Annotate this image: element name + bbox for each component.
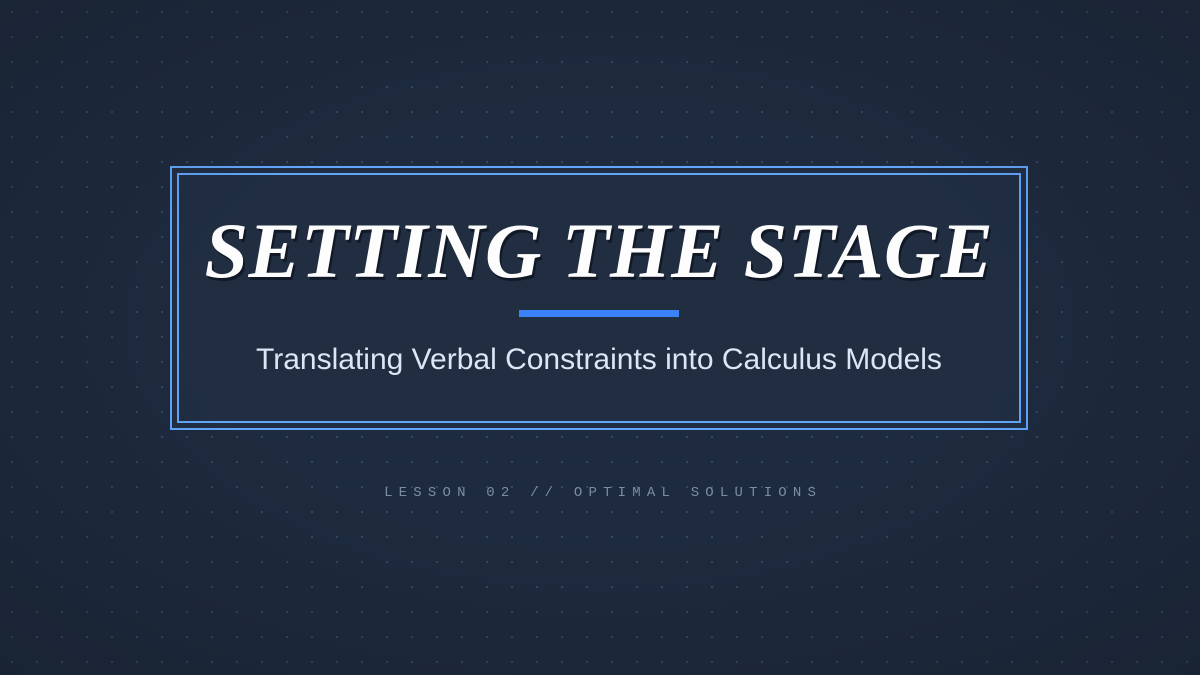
title-panel: SETTING THE STAGE Translating Verbal Con…	[170, 166, 1028, 430]
page-subtitle: Translating Verbal Constraints into Calc…	[256, 343, 942, 378]
slide-background: SETTING THE STAGE Translating Verbal Con…	[0, 0, 1200, 675]
slide-content: SETTING THE STAGE Translating Verbal Con…	[0, 0, 1200, 675]
footer-kicker: LESSON 02 // OPTIMAL SOLUTIONS	[0, 485, 1200, 501]
title-panel-inner: SETTING THE STAGE Translating Verbal Con…	[177, 173, 1021, 423]
accent-divider	[519, 310, 679, 317]
page-title: SETTING THE STAGE	[205, 212, 994, 290]
